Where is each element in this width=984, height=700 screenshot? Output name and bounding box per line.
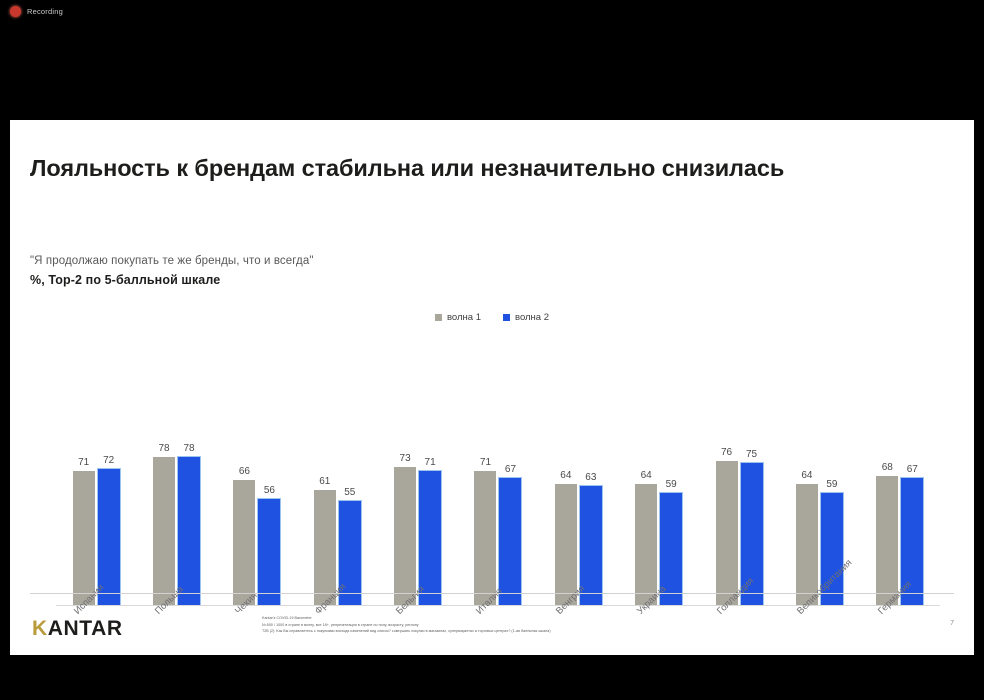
chart-subtitle-block: "Я продолжаю покупать те же бренды, что …	[30, 253, 590, 290]
bar-group: 6155	[297, 342, 377, 605]
bar-value-label: 63	[585, 472, 596, 483]
bar[interactable]: 78	[178, 457, 200, 605]
legend-item-1[interactable]: волна 1	[435, 312, 481, 323]
bar-value-label: 71	[480, 457, 491, 468]
bar-value-label: 59	[826, 479, 837, 490]
bar[interactable]: 78	[153, 457, 175, 605]
bar[interactable]: 64	[796, 484, 818, 605]
chart-plot-area: 7172787866566155737171676463645976756459…	[56, 342, 940, 606]
bar-slot: 64	[635, 342, 657, 605]
presentation-slide: Лояльность к брендам стабильна или незна…	[10, 120, 974, 655]
bar-slot: 76	[716, 342, 738, 605]
bar-slot: 59	[660, 342, 682, 605]
bar-slot: 71	[419, 342, 441, 605]
bar-value-label: 64	[801, 470, 812, 481]
bar[interactable]: 73	[394, 467, 416, 605]
kantar-logo: KANTAR	[32, 617, 123, 641]
logo-accent-letter: K	[32, 617, 48, 640]
legend-swatch-icon	[435, 314, 442, 321]
bar[interactable]: 68	[876, 476, 898, 605]
bar-group: 6459	[619, 342, 699, 605]
bar-slot: 67	[901, 342, 923, 605]
slide-title: Лояльность к брендам стабильна или незна…	[30, 155, 930, 182]
chart-scale-text: %, Тор-2 по 5-балльной шкале	[30, 271, 590, 290]
bar-value-label: 75	[746, 449, 757, 460]
bar-slot: 78	[153, 342, 175, 605]
bar-group: 7675	[699, 342, 779, 605]
bar-slot: 75	[741, 342, 763, 605]
bar[interactable]: 64	[635, 484, 657, 605]
bar-slot: 67	[499, 342, 521, 605]
bar-slot: 72	[98, 342, 120, 605]
bar-value-label: 67	[505, 464, 516, 475]
bar[interactable]: 56	[258, 499, 280, 605]
slide-footnotes: Kantar's COVID-19 BarometerN=500 / 1000 …	[262, 615, 912, 635]
bar-value-label: 76	[721, 447, 732, 458]
page-number: 7	[950, 620, 954, 627]
bar-value-label: 68	[882, 462, 893, 473]
bar-value-label: 61	[319, 476, 330, 487]
bar-slot: 64	[555, 342, 577, 605]
bar-slot: 63	[580, 342, 602, 605]
legend-label: волна 2	[515, 312, 549, 323]
bar-value-label: 56	[264, 485, 275, 496]
bar-slot: 55	[339, 342, 361, 605]
footnote-line: T2B (2). Как Вы справляетесь с покупками…	[262, 628, 912, 635]
chart-legend: волна 1волна 2	[10, 312, 974, 323]
bar-value-label: 66	[239, 466, 250, 477]
bar-value-label: 71	[78, 457, 89, 468]
bar-group: 6867	[860, 342, 940, 605]
chart-question-text: "Я продолжаю покупать те же бренды, что …	[30, 253, 590, 270]
screen-share-frame: Recording Лояльность к брендам стабильна…	[0, 0, 984, 700]
bar-value-label: 64	[641, 470, 652, 481]
bar-slot: 78	[178, 342, 200, 605]
recording-label: Recording	[27, 7, 63, 16]
bar-value-label: 55	[344, 487, 355, 498]
legend-item-2[interactable]: волна 2	[503, 312, 549, 323]
bar-slot: 73	[394, 342, 416, 605]
recording-indicator-bar: Recording	[0, 0, 984, 22]
bar-value-label: 73	[400, 453, 411, 464]
bar[interactable]: 71	[474, 471, 496, 605]
legend-swatch-icon	[503, 314, 510, 321]
bar-slot: 71	[474, 342, 496, 605]
bar[interactable]: 71	[419, 471, 441, 605]
bar-group: 7878	[136, 342, 216, 605]
bar-value-label: 71	[425, 457, 436, 468]
bar[interactable]: 67	[499, 478, 521, 605]
bar-value-label: 78	[183, 443, 194, 454]
bar[interactable]: 64	[555, 484, 577, 605]
bar-group: 7172	[56, 342, 136, 605]
bar-value-label: 67	[907, 464, 918, 475]
bar-value-label: 72	[103, 455, 114, 466]
bar-group: 7371	[377, 342, 457, 605]
footnote-line: N=500 / 1000 в стране в волну, все 18+, …	[262, 622, 912, 629]
bar-slot: 64	[796, 342, 818, 605]
bar-slot: 61	[314, 342, 336, 605]
bar-slot: 68	[876, 342, 898, 605]
legend-label: волна 1	[447, 312, 481, 323]
bar-slot: 71	[73, 342, 95, 605]
bar[interactable]: 71	[73, 471, 95, 605]
footer-divider	[30, 593, 954, 594]
bar-groups: 7172787866566155737171676463645976756459…	[56, 342, 940, 605]
record-dot-icon	[10, 6, 21, 17]
bar[interactable]: 76	[716, 461, 738, 605]
bar-value-label: 78	[158, 443, 169, 454]
bar[interactable]: 66	[233, 480, 255, 605]
bar-group: 6463	[538, 342, 618, 605]
bar-slot: 66	[233, 342, 255, 605]
bar-value-label: 64	[560, 470, 571, 481]
bar-group: 7167	[458, 342, 538, 605]
bar-group: 6656	[217, 342, 297, 605]
logo-rest: ANTAR	[48, 617, 123, 640]
bar-value-label: 59	[666, 479, 677, 490]
bar-slot: 56	[258, 342, 280, 605]
footnote-line: Kantar's COVID-19 Barometer	[262, 615, 912, 622]
